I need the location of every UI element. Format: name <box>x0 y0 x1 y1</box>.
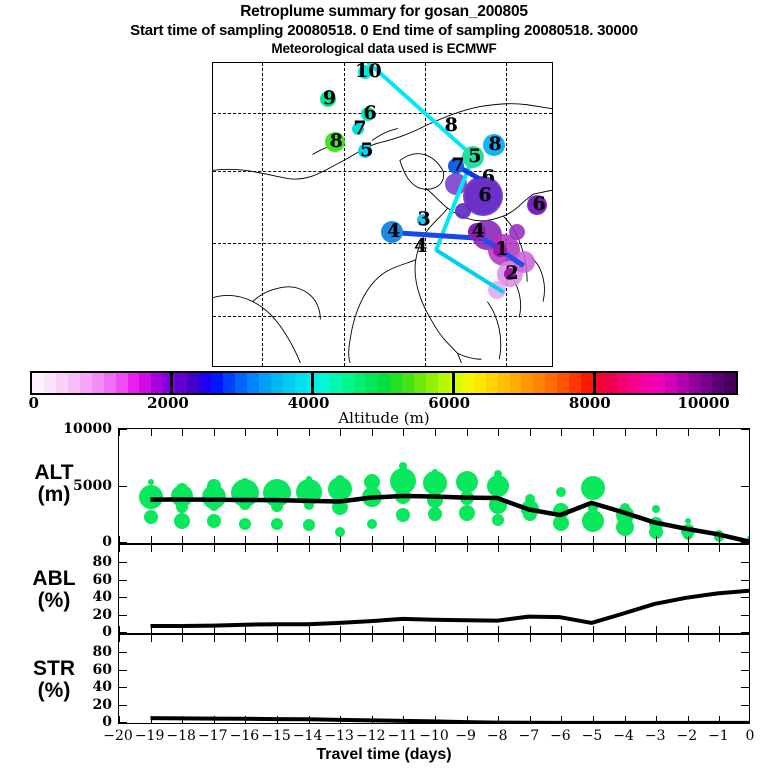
y-tickmark <box>741 429 749 430</box>
x-tickmark <box>467 429 468 436</box>
abl-series-line <box>119 545 749 633</box>
y-tick-label: 40 <box>0 590 112 604</box>
colorbar-swatch <box>569 373 581 393</box>
colorbar-swatch <box>498 373 510 393</box>
colorbar-swatch <box>653 373 665 393</box>
y-tickmark <box>119 652 127 653</box>
x-tick-label: −7 <box>518 729 539 743</box>
x-tickmark <box>593 429 594 436</box>
colorbar-swatch <box>223 373 235 393</box>
y-tickmark <box>741 597 749 598</box>
x-tick-label: −5 <box>582 729 603 743</box>
y-tickmark <box>119 542 127 543</box>
map-gridline-h <box>213 113 552 114</box>
x-tickmark <box>625 635 626 642</box>
colorbar-swatch <box>80 373 92 393</box>
x-tickmark <box>561 429 562 436</box>
colorbar-swatch <box>92 373 104 393</box>
x-tickmark <box>593 545 594 552</box>
x-tickmark <box>403 716 404 723</box>
x-tickmark <box>403 545 404 552</box>
y-tickmark <box>119 429 127 430</box>
x-tickmark <box>688 429 689 436</box>
colorbar-swatch <box>283 373 295 393</box>
colorbar-swatch <box>199 373 211 393</box>
colorbar-swatch <box>629 373 641 393</box>
x-tickmark <box>625 536 626 543</box>
x-tickmark <box>435 545 436 552</box>
x-tickmark <box>719 429 720 436</box>
y-tickmark <box>741 652 749 653</box>
x-tickmark <box>498 545 499 552</box>
colorbar-swatch <box>271 373 283 393</box>
x-tickmark <box>340 716 341 723</box>
colorbar-title: Altitude (m) <box>0 409 768 427</box>
x-tickmark <box>340 545 341 552</box>
x-tickmark <box>372 536 373 543</box>
y-tick-label: 0 <box>0 715 112 729</box>
x-tickmark <box>688 626 689 633</box>
day-marker-label: 5 <box>468 147 481 166</box>
y-tickmark <box>119 632 127 633</box>
x-tickmark <box>656 626 657 633</box>
x-tickmark <box>277 635 278 642</box>
x-tickmark <box>435 536 436 543</box>
x-tickmark <box>151 716 152 723</box>
x-tickmark <box>309 626 310 633</box>
x-tickmark <box>309 429 310 436</box>
x-tickmark <box>151 635 152 642</box>
colorbar-swatch <box>462 373 474 393</box>
colorbar-swatch <box>617 373 629 393</box>
y-tickmark <box>741 486 749 487</box>
x-tickmark <box>656 536 657 543</box>
x-tick-label: 0 <box>746 729 755 743</box>
map-gridline-v <box>344 63 345 366</box>
x-tickmark <box>372 635 373 642</box>
colorbar-swatch <box>366 373 378 393</box>
colorbar-swatch <box>128 373 140 393</box>
x-tickmark <box>151 429 152 436</box>
x-tickmark <box>467 716 468 723</box>
x-tickmark <box>245 429 246 436</box>
x-tickmark <box>372 716 373 723</box>
y-tickmark <box>119 615 127 616</box>
met-data-note: Meteorological data used is ECMWF <box>0 40 768 57</box>
x-tickmark <box>498 429 499 436</box>
x-tick-label: −6 <box>550 729 571 743</box>
x-tick-label: −14 <box>293 729 323 743</box>
x-tick-label: −3 <box>645 729 666 743</box>
x-tick-label: −1 <box>708 729 729 743</box>
x-tickmark <box>277 626 278 633</box>
x-tickmark <box>277 716 278 723</box>
colorbar-swatch <box>402 373 414 393</box>
colorbar-swatch <box>259 373 271 393</box>
colorbar-swatch <box>175 373 187 393</box>
x-tickmark <box>182 429 183 436</box>
x-tickmark <box>119 545 120 552</box>
colorbar-swatch <box>247 373 259 393</box>
x-tickmark <box>340 429 341 436</box>
x-tickmark <box>625 545 626 552</box>
colorbar-divider <box>593 371 596 395</box>
day-marker-label: 4 <box>387 222 400 241</box>
colorbar-swatch <box>342 373 354 393</box>
day-marker-label: 3 <box>418 210 431 229</box>
colorbar-swatch <box>665 373 677 393</box>
x-tickmark <box>688 536 689 543</box>
colorbar-swatch <box>521 373 533 393</box>
y-tickmark <box>119 562 127 563</box>
y-tickmark <box>741 722 749 723</box>
x-tickmark <box>245 635 246 642</box>
x-tickmark <box>119 635 120 642</box>
day-marker-label: 10 <box>355 62 381 81</box>
colorbar-swatch <box>677 373 689 393</box>
x-tickmark <box>182 716 183 723</box>
y-tick-label: 20 <box>0 608 112 622</box>
day-marker-label: 7 <box>451 156 464 175</box>
alt-plot-panel[interactable] <box>118 428 750 544</box>
map-gridline-v <box>262 63 263 366</box>
x-tickmark <box>340 635 341 642</box>
colorbar-swatch <box>211 373 223 393</box>
map-gridline-h <box>213 171 552 172</box>
x-tickmark <box>467 635 468 642</box>
colorbar-swatch <box>68 373 80 393</box>
x-tickmark <box>151 536 152 543</box>
day-marker-label: 4 <box>472 222 485 241</box>
y-tickmark <box>119 486 127 487</box>
colorbar-swatch <box>641 373 653 393</box>
colorbar-swatch <box>116 373 128 393</box>
colorbar-swatch <box>235 373 247 393</box>
day-marker-label: 4 <box>414 237 427 256</box>
y-tick-label: 80 <box>0 555 112 569</box>
x-tickmark <box>498 716 499 723</box>
abl-plot-panel[interactable] <box>118 544 750 634</box>
x-tickmark <box>309 536 310 543</box>
y-tickmark <box>741 580 749 581</box>
map-gridline-v <box>506 63 507 366</box>
x-tickmark <box>403 635 404 642</box>
x-tickmark <box>340 626 341 633</box>
x-tickmark <box>530 536 531 543</box>
x-tickmark <box>719 635 720 642</box>
day-marker-label: 5 <box>360 141 373 160</box>
x-tickmark <box>435 429 436 436</box>
x-tick-label: −19 <box>135 729 165 743</box>
x-tickmark <box>435 635 436 642</box>
colorbar-swatch <box>44 373 56 393</box>
y-tick-label: 80 <box>0 645 112 659</box>
x-tickmark <box>561 635 562 642</box>
x-tick-label: −13 <box>324 729 354 743</box>
y-tickmark <box>741 687 749 688</box>
colorbar-swatch <box>390 373 402 393</box>
x-tickmark <box>467 545 468 552</box>
day-marker-label: 1 <box>495 240 508 259</box>
colorbar-divider <box>170 371 173 395</box>
x-tickmark <box>688 716 689 723</box>
x-tickmark <box>182 536 183 543</box>
x-tickmark <box>372 626 373 633</box>
y-tickmark <box>741 542 749 543</box>
colorbar-swatch <box>557 373 569 393</box>
y-tick-label: 0 <box>0 625 112 639</box>
x-tickmark <box>593 716 594 723</box>
y-tick-label: 10000 <box>0 422 112 436</box>
day-marker-label: 6 <box>478 186 491 205</box>
x-tickmark <box>561 545 562 552</box>
y-tickmark <box>741 562 749 563</box>
x-tickmark <box>530 716 531 723</box>
x-tickmark <box>593 626 594 633</box>
x-tickmark <box>309 716 310 723</box>
x-tickmark <box>719 626 720 633</box>
alt-mean-line <box>119 429 749 543</box>
y-tick-label: 0 <box>0 535 112 549</box>
map-gridline-h <box>213 316 552 317</box>
str-plot-panel[interactable] <box>118 634 750 724</box>
x-tickmark <box>182 545 183 552</box>
str-series-line <box>119 635 749 723</box>
y-tickmark <box>119 687 127 688</box>
x-tickmark <box>245 545 246 552</box>
colorbar-divider <box>452 371 455 395</box>
x-tick-label: −17 <box>198 729 228 743</box>
day-marker-label: 6 <box>363 104 376 123</box>
x-tickmark <box>467 626 468 633</box>
x-tickmark <box>119 429 120 436</box>
x-tickmark <box>214 716 215 723</box>
y-tickmark <box>119 670 127 671</box>
x-tickmark <box>530 635 531 642</box>
x-tick-label: −11 <box>388 729 418 743</box>
x-tickmark <box>467 536 468 543</box>
y-tickmark <box>741 705 749 706</box>
y-tickmark <box>741 670 749 671</box>
colorbar-swatch <box>354 373 366 393</box>
y-tick-label: 5000 <box>0 479 112 493</box>
colorbar-swatch <box>378 373 390 393</box>
colorbar-swatch <box>545 373 557 393</box>
map-canvas: 10987658857664344162 <box>213 63 552 366</box>
colorbar-swatch <box>319 373 331 393</box>
day-marker-label: 8 <box>330 132 343 151</box>
coastline-overlay <box>213 63 552 363</box>
x-tickmark <box>561 716 562 723</box>
colorbar-swatch <box>581 373 593 393</box>
x-tickmark <box>151 626 152 633</box>
colorbar-swatch <box>510 373 522 393</box>
x-tickmark <box>245 716 246 723</box>
colorbar-swatch <box>56 373 68 393</box>
retroplume-map[interactable]: 10987658857664344162 <box>212 62 553 367</box>
y-tickmark <box>119 597 127 598</box>
colorbar-swatch <box>139 373 151 393</box>
x-tickmark <box>435 626 436 633</box>
x-tickmark <box>277 429 278 436</box>
x-tickmark <box>403 429 404 436</box>
x-tickmark <box>309 635 310 642</box>
x-tickmark <box>719 716 720 723</box>
page-title: Retroplume summary for gosan_200805 <box>0 2 768 21</box>
x-tickmark <box>245 626 246 633</box>
colorbar-swatch <box>32 373 44 393</box>
x-tickmark <box>403 626 404 633</box>
x-tickmark <box>182 635 183 642</box>
colorbar-divider <box>311 371 314 395</box>
x-tick-label: −15 <box>261 729 291 743</box>
y-tick-label: 40 <box>0 680 112 694</box>
colorbar-swatch <box>414 373 426 393</box>
x-tick-label: −4 <box>613 729 634 743</box>
x-tickmark <box>625 429 626 436</box>
x-tickmark <box>340 536 341 543</box>
colorbar-swatch <box>605 373 617 393</box>
x-tick-label: −16 <box>230 729 260 743</box>
x-tickmark <box>372 545 373 552</box>
x-tickmark <box>625 716 626 723</box>
y-tickmark <box>741 615 749 616</box>
x-tickmark <box>277 545 278 552</box>
colorbar-swatch <box>701 373 713 393</box>
x-tick-label: −20 <box>103 729 133 743</box>
x-tickmark <box>214 626 215 633</box>
colorbar-swatch <box>438 373 450 393</box>
day-marker-label: 8 <box>445 116 458 135</box>
x-tickmark <box>498 536 499 543</box>
y-tickmark <box>741 632 749 633</box>
x-tickmark <box>719 536 720 543</box>
x-tickmark <box>656 716 657 723</box>
y-tickmark <box>119 705 127 706</box>
y-tick-label: 60 <box>0 573 112 587</box>
x-tick-label: −18 <box>166 729 196 743</box>
day-marker-label: 8 <box>489 135 502 154</box>
colorbar-swatch <box>295 373 307 393</box>
colorbar-swatch <box>187 373 199 393</box>
x-tickmark <box>656 545 657 552</box>
x-tickmark <box>309 545 310 552</box>
colorbar-swatch <box>712 373 724 393</box>
y-tick-label: 20 <box>0 698 112 712</box>
y-tickmark <box>119 722 127 723</box>
day-marker-label: 2 <box>505 264 518 283</box>
x-tick-label: −9 <box>455 729 476 743</box>
x-tickmark <box>435 716 436 723</box>
colorbar-swatch <box>104 373 116 393</box>
x-tick-label: −2 <box>676 729 697 743</box>
altitude-colorbar[interactable] <box>30 371 738 395</box>
colorbar-swatch <box>330 373 342 393</box>
x-tickmark <box>214 536 215 543</box>
x-tickmark <box>688 545 689 552</box>
day-marker-label: 9 <box>323 89 336 108</box>
x-tickmark <box>245 536 246 543</box>
x-tickmark <box>656 429 657 436</box>
colorbar-swatch <box>426 373 438 393</box>
x-tickmark <box>151 545 152 552</box>
y-tick-label: 60 <box>0 663 112 677</box>
x-tickmark <box>561 626 562 633</box>
x-tickmark <box>593 536 594 543</box>
x-axis-title: Travel time (days) <box>0 746 768 764</box>
x-tickmark <box>561 536 562 543</box>
x-tickmark <box>277 536 278 543</box>
x-tickmark <box>498 635 499 642</box>
x-tickmark <box>625 626 626 633</box>
x-tickmark <box>530 626 531 633</box>
x-tickmark <box>403 536 404 543</box>
x-tickmark <box>214 545 215 552</box>
x-tick-label: −10 <box>419 729 449 743</box>
x-tickmark <box>719 545 720 552</box>
x-tickmark <box>530 545 531 552</box>
title-block: Retroplume summary for gosan_200805 Star… <box>0 2 768 57</box>
colorbar-swatch <box>486 373 498 393</box>
x-tickmark <box>688 635 689 642</box>
day-marker-label: 6 <box>532 195 545 214</box>
x-tickmark <box>372 429 373 436</box>
x-tickmark <box>182 626 183 633</box>
y-tickmark <box>119 580 127 581</box>
x-tickmark <box>498 626 499 633</box>
colorbar-swatch <box>151 373 163 393</box>
sampling-times: Start time of sampling 20080518. 0 End t… <box>0 21 768 40</box>
x-tickmark <box>530 429 531 436</box>
colorbar-swatch <box>724 373 736 393</box>
x-tickmark <box>656 635 657 642</box>
x-tickmark <box>214 635 215 642</box>
x-tickmark <box>214 429 215 436</box>
x-tickmark <box>593 635 594 642</box>
colorbar-swatch <box>533 373 545 393</box>
x-tick-label: −8 <box>487 729 508 743</box>
x-tick-label: −12 <box>356 729 386 743</box>
colorbar-swatch <box>474 373 486 393</box>
colorbar-swatch <box>689 373 701 393</box>
